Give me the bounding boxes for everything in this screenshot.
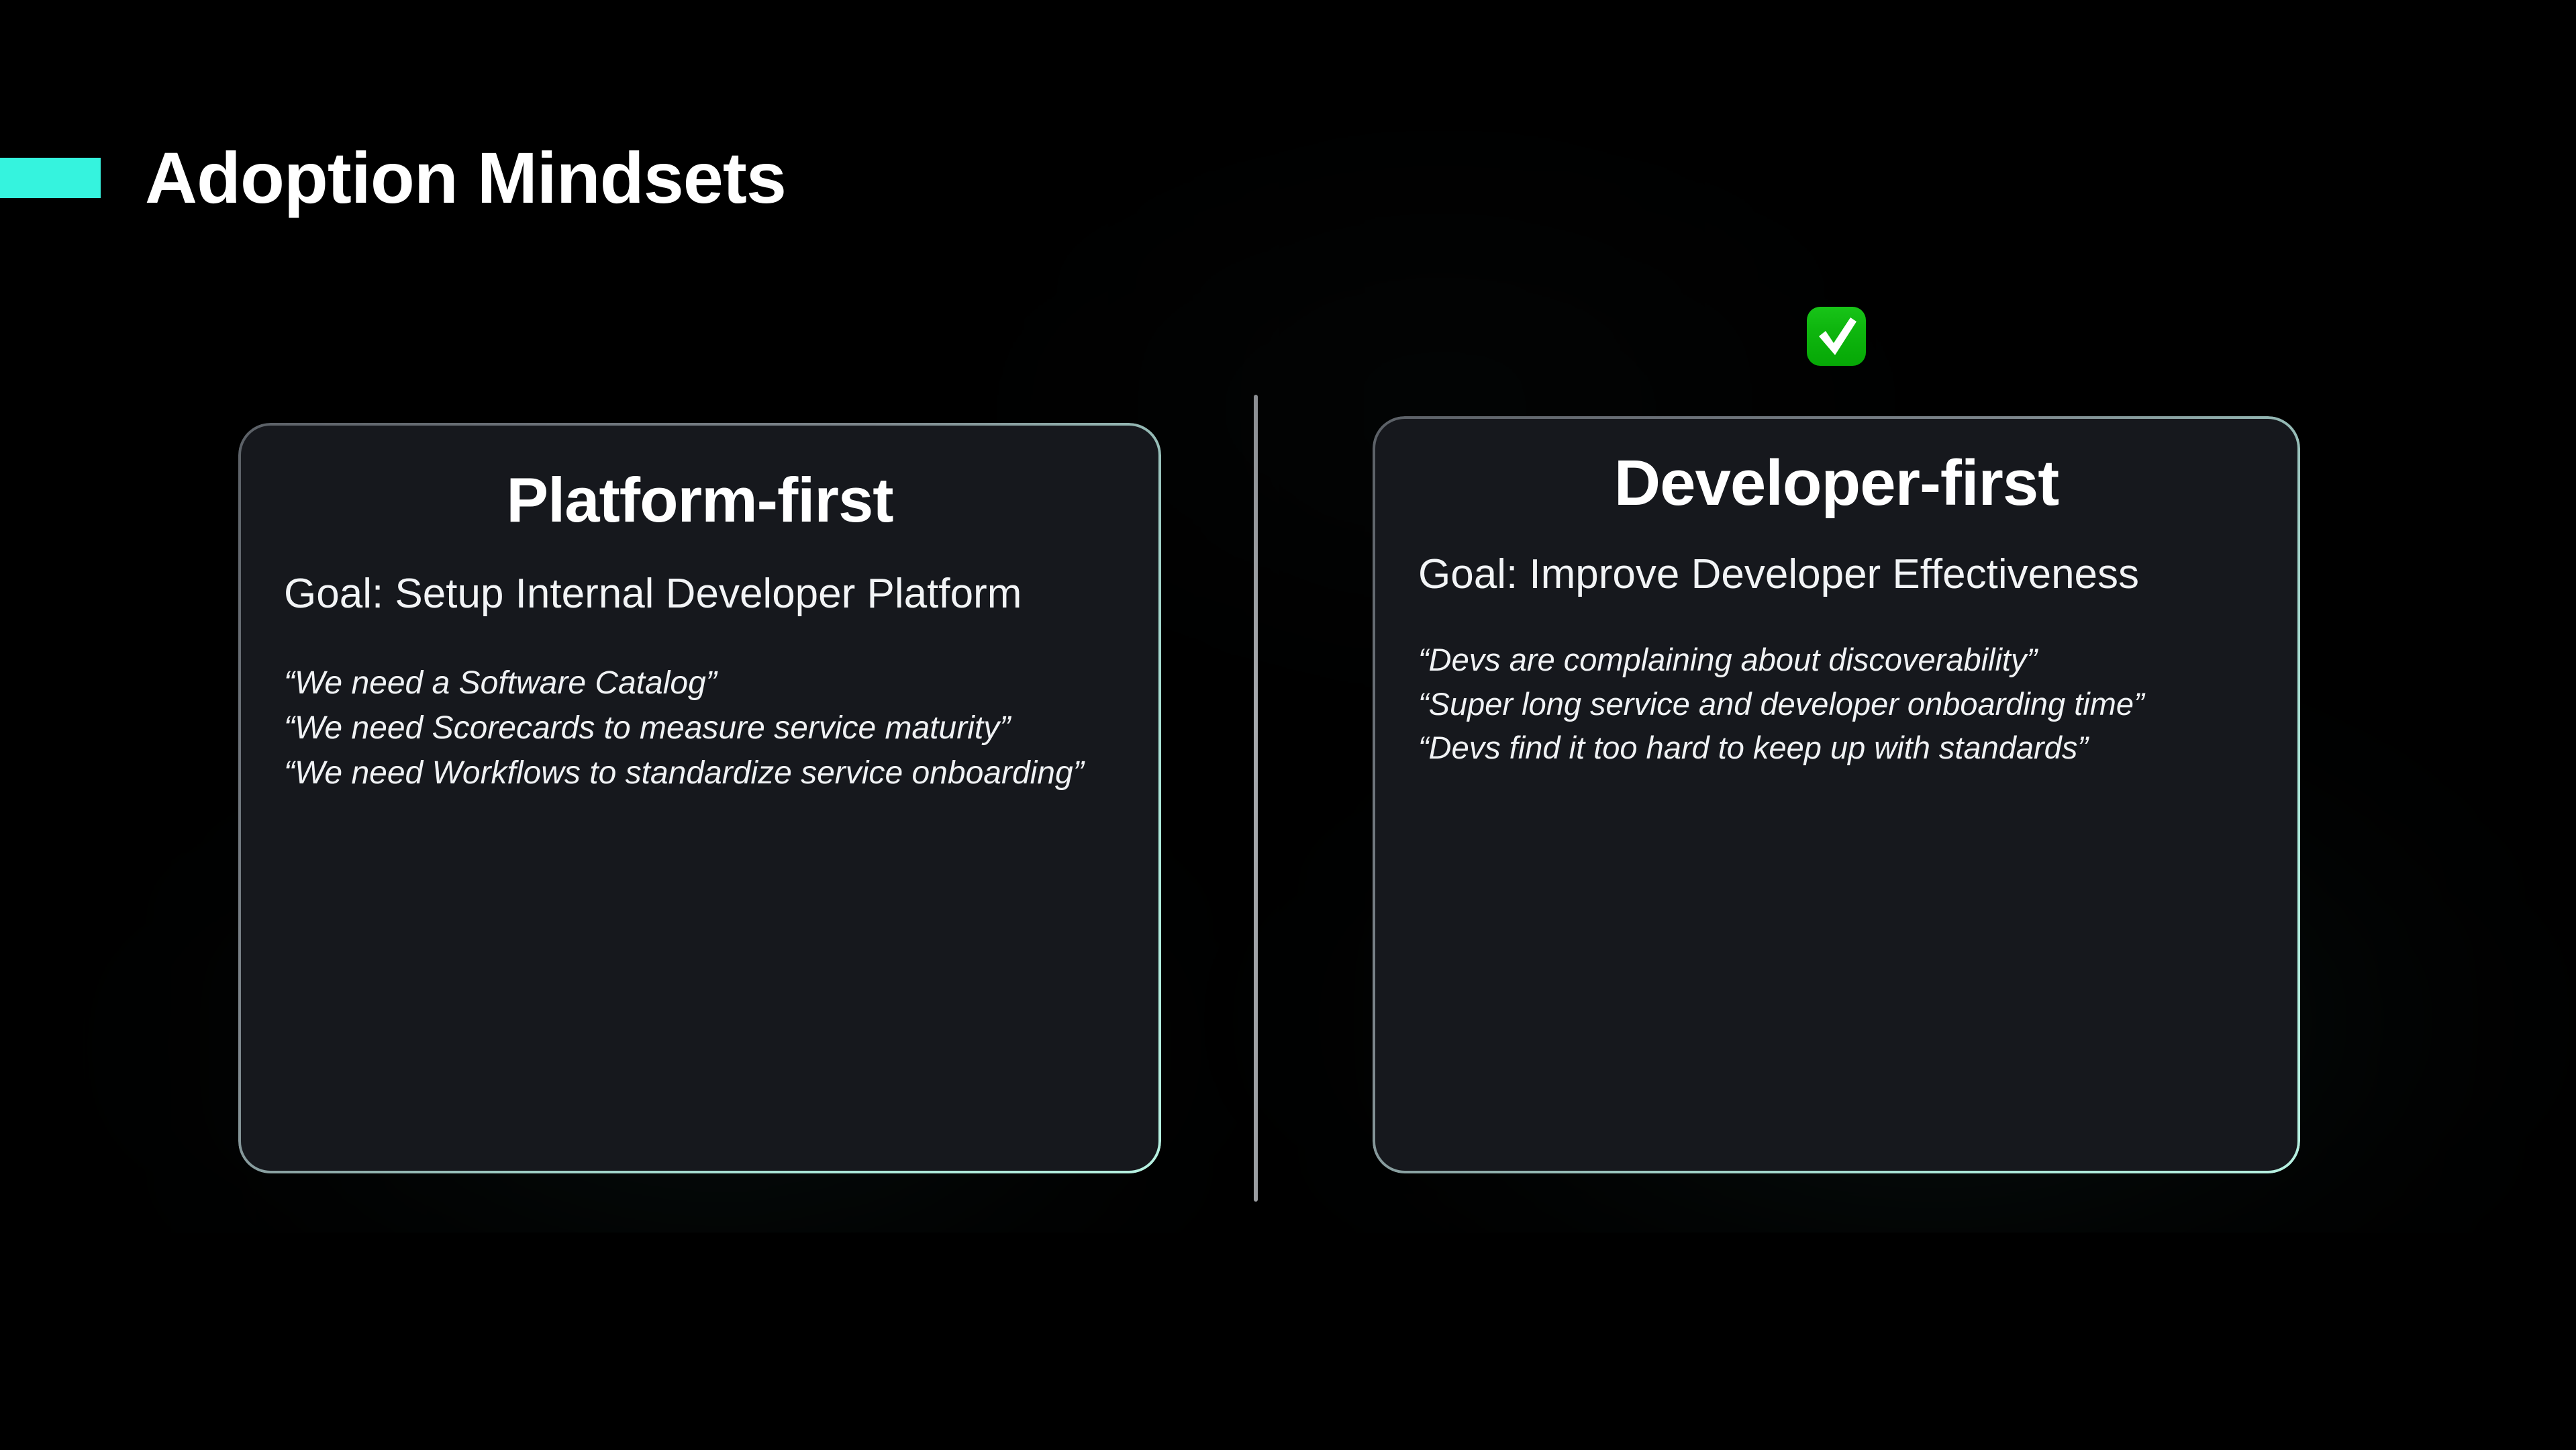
white-check-mark-icon bbox=[1805, 305, 1867, 367]
quote-line: “Devs are complaining about discoverabil… bbox=[1418, 638, 2255, 682]
card-body: Platform-first Goal: Setup Internal Deve… bbox=[238, 423, 1161, 795]
quote-line: “Super long service and developer onboar… bbox=[1418, 682, 2255, 726]
page-title: Adoption Mindsets bbox=[145, 142, 786, 214]
card-goal: Goal: Setup Internal Developer Platform bbox=[284, 566, 1116, 622]
card-title: Platform-first bbox=[284, 465, 1116, 535]
card-developer-first[interactable]: Developer-first Goal: Improve Developer … bbox=[1373, 416, 2300, 1173]
card-title: Developer-first bbox=[1418, 447, 2255, 520]
quote-line: “We need Scorecards to measure service m… bbox=[284, 706, 1116, 751]
card-goal: Goal: Improve Developer Effectiveness bbox=[1418, 546, 2255, 603]
card-quotes: “Devs are complaining about discoverabil… bbox=[1418, 638, 2255, 770]
quote-line: “We need Workflows to standardize servic… bbox=[284, 751, 1116, 795]
quote-line: “We need a Software Catalog” bbox=[284, 661, 1116, 706]
card-quotes: “We need a Software Catalog” “We need Sc… bbox=[284, 661, 1116, 796]
card-platform-first[interactable]: Platform-first Goal: Setup Internal Deve… bbox=[238, 423, 1161, 1173]
slide: Adoption Mindsets Platform-first Goal: S… bbox=[0, 0, 2576, 1450]
card-body: Developer-first Goal: Improve Developer … bbox=[1373, 416, 2300, 770]
accent-bar-icon bbox=[0, 158, 101, 198]
column-divider bbox=[1254, 395, 1258, 1202]
bottom-black-band bbox=[0, 1232, 2576, 1450]
quote-line: “Devs find it too hard to keep up with s… bbox=[1418, 726, 2255, 770]
slide-header: Adoption Mindsets bbox=[0, 131, 786, 225]
